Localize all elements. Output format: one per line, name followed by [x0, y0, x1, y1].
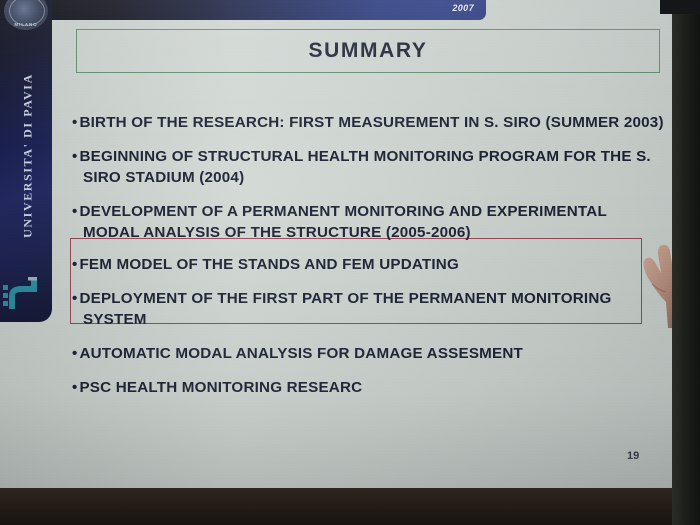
university-seal-icon: MILANO [4, 0, 48, 30]
room-floor-shadow [0, 488, 700, 525]
bullet-item-beginning-shm-program: •BEGINNING OF STRUCTURAL HEALTH MONITORI… [72, 146, 664, 188]
year-badge: 2007 [452, 3, 474, 13]
slide-title: SUMMARY [309, 39, 428, 63]
slide-number: 19 [627, 450, 639, 462]
bullet-item-automatic-modal-analysis: •AUTOMATIC MODAL ANALYSIS FOR DAMAGE ASS… [72, 343, 664, 364]
room-wall-right [672, 0, 700, 525]
sidebar-university-name: UNIVERSITA' DI PAVIA [21, 51, 36, 261]
bullet-text: DEVELOPMENT OF A PERMANENT MONITORING AN… [79, 203, 606, 241]
bullet-item-psc-health-monitoring: •PSC HEALTH MONITORING RESEARC [72, 377, 664, 398]
bullet-text: AUTOMATIC MODAL ANALYSIS FOR DAMAGE ASSE… [79, 345, 523, 362]
room-ceiling-corner [660, 0, 700, 14]
bullet-text: FEM MODEL OF THE STANDS AND FEM UPDATING [79, 256, 459, 273]
projected-slide-photo: 2007 MILANO UNIVERSITA' DI PAVIA SUMMARY [0, 0, 700, 525]
bullet-item-permanent-monitoring-development: •DEVELOPMENT OF A PERMANENT MONITORING A… [72, 201, 664, 243]
bullet-item-fem-model: •FEM MODEL OF THE STANDS AND FEM UPDATIN… [72, 254, 664, 275]
slide-title-box: SUMMARY [76, 29, 660, 73]
bullet-text: BEGINNING OF STRUCTURAL HEALTH MONITORIN… [79, 148, 650, 186]
slide-header-bar: 2007 [34, 0, 486, 20]
bullet-text: PSC HEALTH MONITORING RESEARC [79, 379, 362, 396]
seal-caption: MILANO [4, 22, 48, 27]
bullet-item-deployment-first-part: •DEPLOYMENT OF THE FIRST PART OF THE PER… [72, 288, 664, 330]
presentation-slide: 2007 MILANO UNIVERSITA' DI PAVIA SUMMARY [0, 0, 674, 490]
bullet-text: BIRTH OF THE RESEARCH: FIRST MEASUREMENT… [79, 114, 663, 131]
branding-sidebar: MILANO UNIVERSITA' DI PAVIA [0, 0, 52, 322]
bullet-list: •BIRTH OF THE RESEARCH: FIRST MEASUREMEN… [72, 112, 664, 411]
bullet-text: DEPLOYMENT OF THE FIRST PART OF THE PERM… [79, 290, 611, 328]
bullet-item-birth-of-research: •BIRTH OF THE RESEARCH: FIRST MEASUREMEN… [72, 112, 664, 133]
eu-emblem-icon [1, 276, 47, 316]
